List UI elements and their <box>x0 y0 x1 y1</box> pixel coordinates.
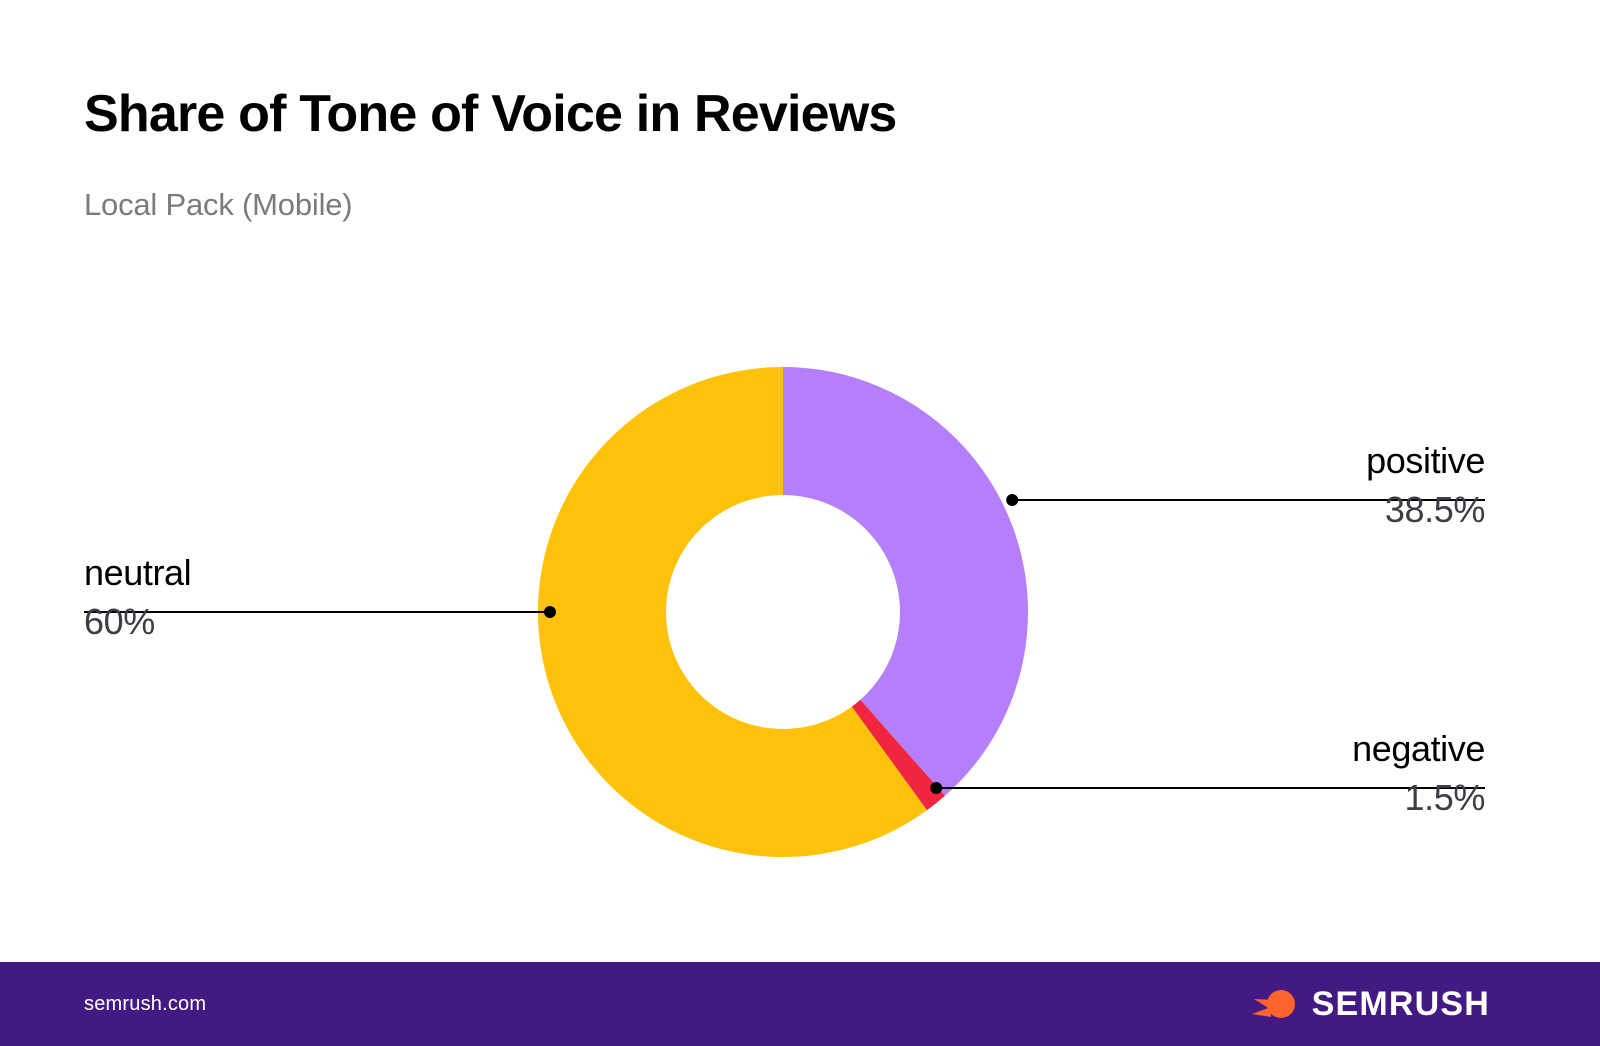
leader-dot-negative <box>930 782 942 794</box>
callout-neutral-label: neutral <box>84 552 504 593</box>
semrush-logo: SEMRUSH <box>1252 985 1490 1024</box>
callout-negative: negative 1.5% <box>1065 728 1485 819</box>
semrush-comet-icon <box>1252 987 1298 1021</box>
leader-dot-positive <box>1006 494 1018 506</box>
callout-neutral-value: 60% <box>84 593 504 642</box>
leader-dot-neutral <box>544 606 556 618</box>
callout-positive-label: positive <box>1065 440 1485 481</box>
semrush-wordmark: SEMRUSH <box>1312 985 1490 1024</box>
callout-negative-value: 1.5% <box>1065 769 1485 818</box>
callout-neutral: neutral 60% <box>84 552 504 643</box>
callout-positive-value: 38.5% <box>1065 481 1485 530</box>
callout-positive: positive 38.5% <box>1065 440 1485 531</box>
footer-bar: semrush.com SEMRUSH <box>0 962 1600 1046</box>
footer-url[interactable]: semrush.com <box>84 993 206 1016</box>
callout-negative-label: negative <box>1065 728 1485 769</box>
infographic-page: Share of Tone of Voice in Reviews Local … <box>0 0 1600 1046</box>
donut-slice-group <box>538 367 1028 857</box>
